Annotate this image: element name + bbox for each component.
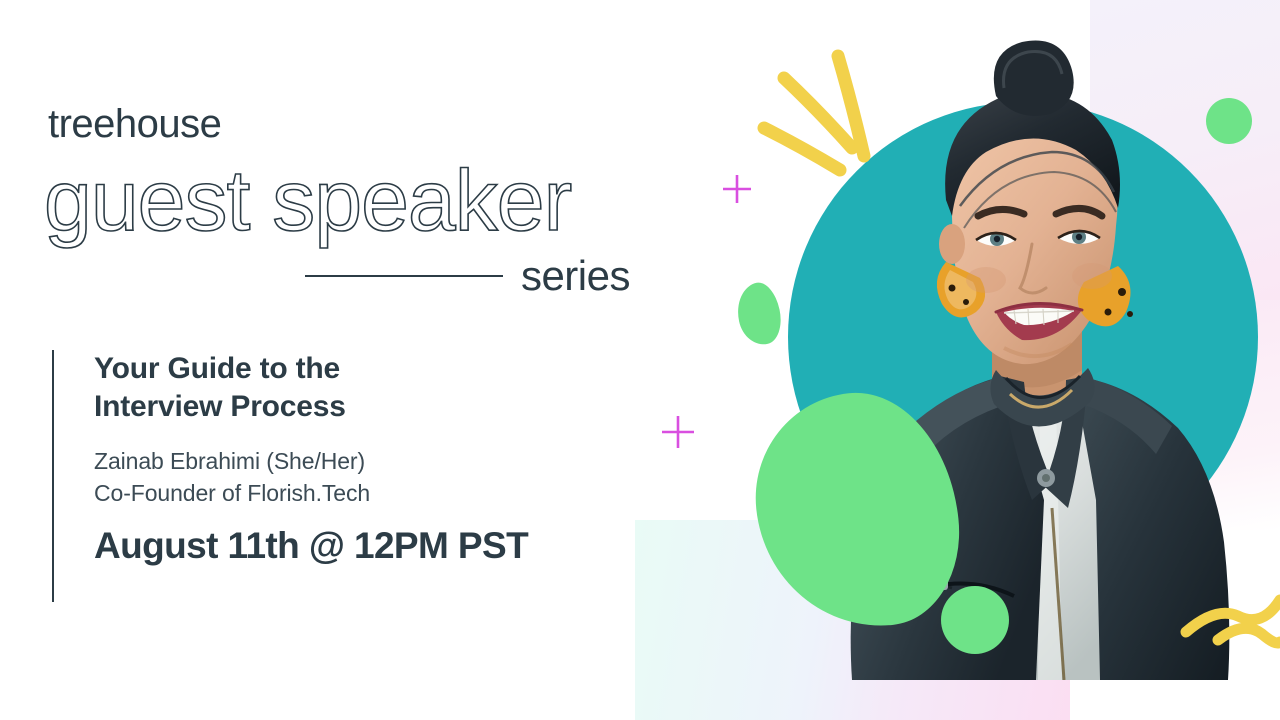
session-datetime: August 11th @ 12PM PST <box>94 526 528 567</box>
speaker-role: Co-Founder of Florish.Tech <box>94 477 528 510</box>
speaker-name: Zainab Ebrahimi (She/Her) <box>94 445 528 478</box>
session-details: Your Guide to the Interview Process Zain… <box>52 350 528 602</box>
series-label: series <box>521 255 630 297</box>
series-divider-rule <box>305 275 503 277</box>
session-title: Your Guide to the Interview Process <box>94 350 528 427</box>
green-blob-small <box>732 279 786 348</box>
plus-mark-middle <box>662 416 694 448</box>
series-row: series <box>305 255 630 297</box>
brand-wordmark: treehouse <box>48 104 221 144</box>
content-column: treehouse guest speaker series Your Guid… <box>0 0 660 720</box>
green-circle-bottom <box>941 586 1009 654</box>
promo-graphic: treehouse guest speaker series Your Guid… <box>0 0 1280 720</box>
plus-mark-top <box>723 175 751 203</box>
hero-headline: guest speaker <box>44 158 571 244</box>
